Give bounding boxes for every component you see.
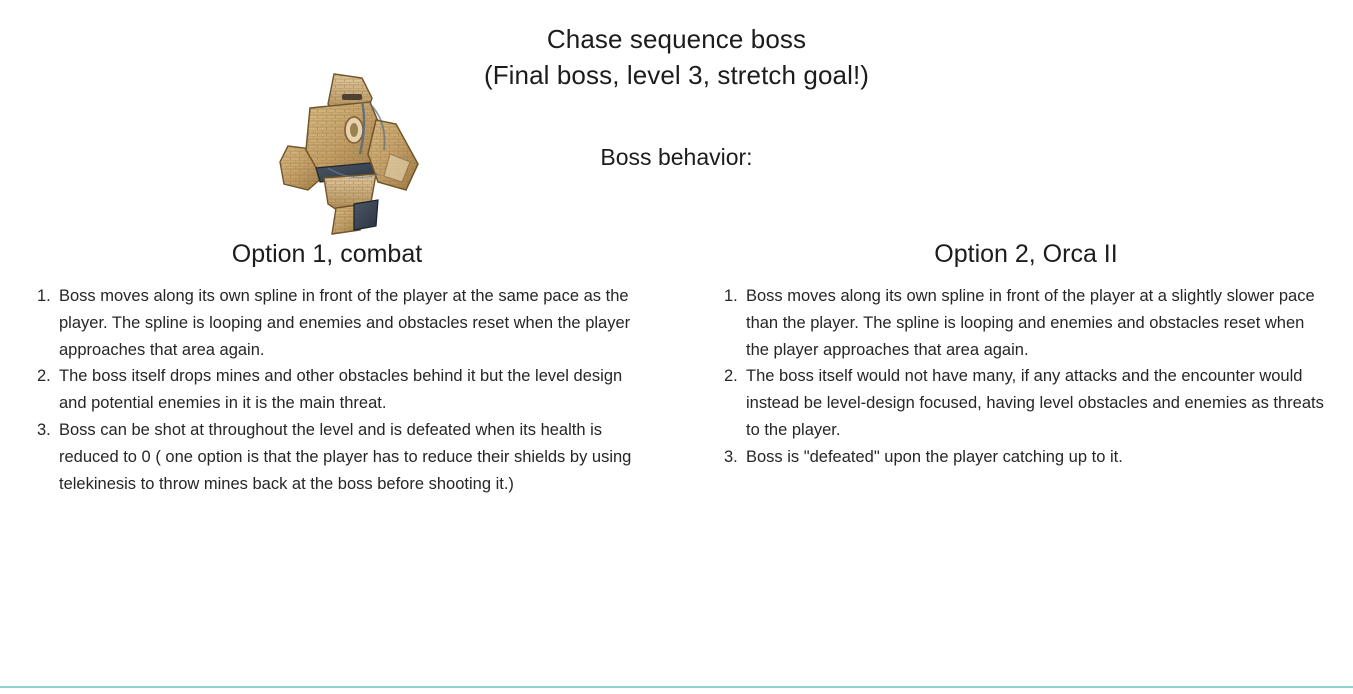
- list-item: 2. The boss itself would not have many, …: [724, 363, 1330, 443]
- option-1-heading: Option 1, combat: [2, 240, 652, 269]
- list-item: 2. The boss itself drops mines and other…: [37, 363, 637, 417]
- list-item: 3. Boss is "defeated" upon the player ca…: [724, 444, 1330, 471]
- list-marker: 3.: [37, 417, 55, 444]
- list-marker: 1.: [724, 283, 742, 310]
- list-item: 1. Boss moves along its own spline in fr…: [37, 283, 637, 363]
- bottom-accent-rule: [0, 686, 1353, 688]
- list-item-text: Boss moves along its own spline in front…: [59, 283, 637, 363]
- title-line-1: Chase sequence boss: [0, 21, 1353, 57]
- slide-canvas: Chase sequence boss (Final boss, level 3…: [0, 0, 1353, 694]
- page-title: Chase sequence boss (Final boss, level 3…: [0, 21, 1353, 93]
- list-item-text: Boss is "defeated" upon the player catch…: [746, 444, 1330, 471]
- list-marker: 1.: [37, 283, 55, 310]
- list-item-text: The boss itself drops mines and other ob…: [59, 363, 637, 417]
- boss-behavior-label: Boss behavior:: [0, 144, 1353, 171]
- option-2-heading: Option 2, Orca II: [706, 240, 1346, 269]
- golem-boss-image: [250, 58, 428, 236]
- list-marker: 2.: [724, 363, 742, 390]
- list-item-text: Boss can be shot at throughout the level…: [59, 417, 637, 497]
- list-marker: 3.: [724, 444, 742, 471]
- list-item-text: Boss moves along its own spline in front…: [746, 283, 1330, 363]
- list-marker: 2.: [37, 363, 55, 390]
- option-1-list: 1. Boss moves along its own spline in fr…: [37, 283, 637, 497]
- title-line-2: (Final boss, level 3, stretch goal!): [0, 57, 1353, 93]
- list-item: 1. Boss moves along its own spline in fr…: [724, 283, 1330, 363]
- list-item-text: The boss itself would not have many, if …: [746, 363, 1330, 443]
- option-2-list: 1. Boss moves along its own spline in fr…: [724, 283, 1330, 471]
- list-item: 3. Boss can be shot at throughout the le…: [37, 417, 637, 497]
